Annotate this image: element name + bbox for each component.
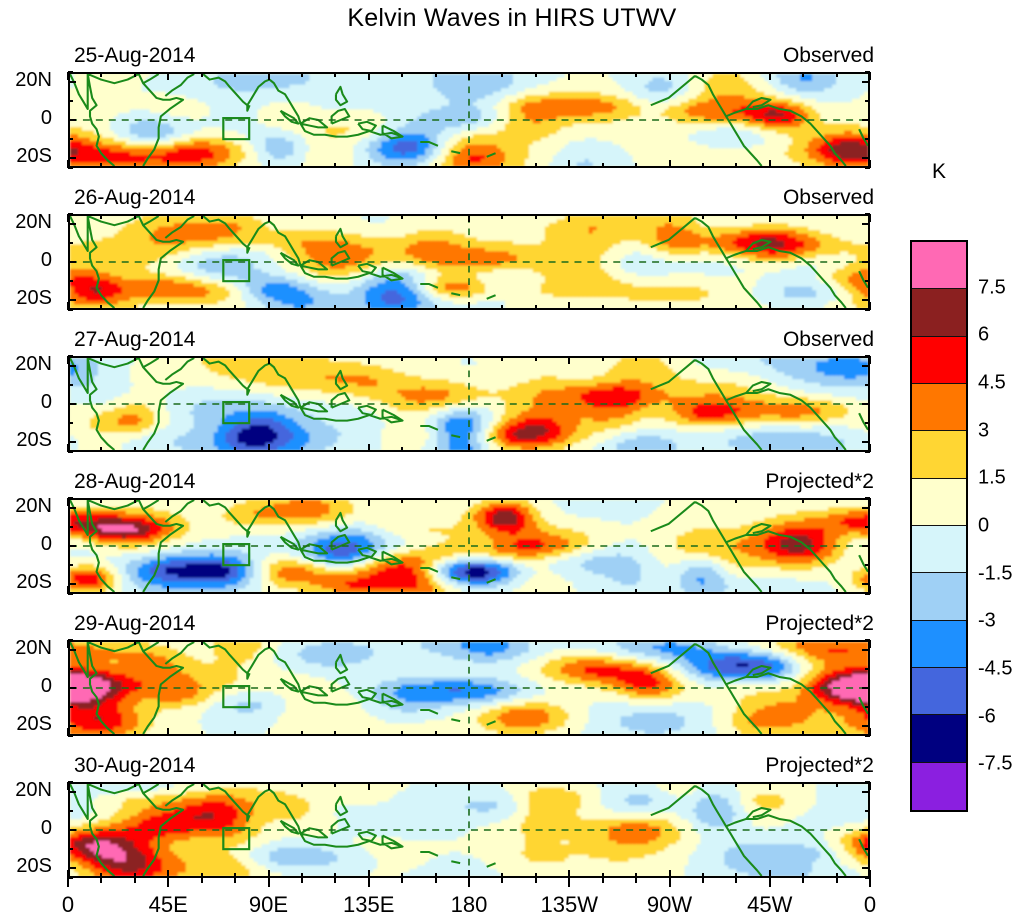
panel-lon-tick bbox=[836, 498, 838, 503]
panel-lon-tick bbox=[368, 586, 370, 594]
panel-lon-tick bbox=[769, 302, 771, 310]
panel-lon-tick bbox=[836, 731, 838, 736]
panel-lon-tick bbox=[702, 782, 704, 787]
panel-lon-tick bbox=[501, 589, 503, 594]
panel-lon-tick bbox=[368, 498, 370, 506]
x-tick-minor bbox=[334, 878, 336, 883]
panel-lon-tick bbox=[301, 163, 303, 168]
panel-lon-tick bbox=[67, 640, 69, 648]
map-panel-6[interactable] bbox=[68, 782, 870, 878]
panel-lon-tick bbox=[702, 72, 704, 77]
colorbar-band-5 bbox=[912, 479, 966, 526]
panel-lon-tick bbox=[268, 870, 270, 878]
panel-lon-tick bbox=[234, 214, 236, 219]
panel-lon-tick bbox=[234, 163, 236, 168]
panel-lon-tick bbox=[401, 640, 403, 645]
panel-lat-tick bbox=[865, 242, 870, 244]
panel-lon-tick bbox=[134, 356, 136, 361]
panel-lon-tick bbox=[401, 72, 403, 77]
colorbar-tick--6: -6 bbox=[978, 705, 996, 728]
panel-lon-tick bbox=[802, 72, 804, 77]
contour-field-6 bbox=[70, 784, 868, 876]
panel-lat-tick bbox=[865, 668, 870, 670]
panel-lon-tick bbox=[802, 498, 804, 503]
panel-lat-tick bbox=[68, 223, 76, 225]
panel-lon-tick bbox=[535, 731, 537, 736]
panel-lat-tick bbox=[68, 583, 76, 585]
contour-field-3 bbox=[70, 358, 868, 450]
panel-lon-tick bbox=[769, 72, 771, 80]
panel-lon-tick bbox=[201, 163, 203, 168]
x-tick-minor bbox=[702, 878, 704, 883]
panel-lon-tick bbox=[501, 163, 503, 168]
colorbar-band-4 bbox=[912, 431, 966, 478]
panel-lon-tick bbox=[535, 640, 537, 645]
panel-lon-tick bbox=[769, 214, 771, 222]
map-panel-4[interactable] bbox=[68, 498, 870, 594]
x-tick-minor bbox=[134, 878, 136, 883]
panel-lon-tick bbox=[735, 214, 737, 219]
panel-lon-tick bbox=[568, 782, 570, 790]
panel-lon-tick bbox=[67, 728, 69, 736]
panel-lon-tick bbox=[735, 72, 737, 77]
panel-lon-tick bbox=[836, 447, 838, 452]
panel-lon-tick bbox=[201, 731, 203, 736]
panel-lon-tick bbox=[802, 214, 804, 219]
panel-lon-tick bbox=[234, 498, 236, 503]
x-tick-minor bbox=[301, 878, 303, 883]
colorbar-band-6 bbox=[912, 526, 966, 573]
panel-lon-tick bbox=[435, 72, 437, 77]
panel-lon-tick bbox=[669, 444, 671, 452]
panel-lon-tick bbox=[201, 356, 203, 361]
panel-date-5: 29-Aug-2014 bbox=[74, 613, 195, 634]
panel-lat-tick bbox=[862, 507, 870, 509]
panel-lat-tick bbox=[68, 119, 76, 121]
colorbar-tick--7.5: -7.5 bbox=[978, 753, 1012, 776]
panel-lon-tick bbox=[635, 498, 637, 503]
panel-date-6: 30-Aug-2014 bbox=[74, 755, 195, 776]
panel-lon-tick bbox=[568, 640, 570, 648]
panel-lon-tick bbox=[568, 160, 570, 168]
panel-lon-tick bbox=[769, 728, 771, 736]
panel-lon-tick bbox=[635, 163, 637, 168]
panel-lon-tick bbox=[134, 640, 136, 645]
panel-lon-tick bbox=[869, 782, 871, 790]
panel-lon-tick bbox=[602, 782, 604, 787]
panel-lon-tick bbox=[201, 447, 203, 452]
panel-lon-tick bbox=[669, 214, 671, 222]
panel-lon-tick bbox=[234, 782, 236, 787]
panel-lon-tick bbox=[535, 782, 537, 787]
panel-lon-tick bbox=[735, 589, 737, 594]
panel-lon-tick bbox=[869, 870, 871, 878]
y-axis-label-0-panel-6: 0 bbox=[0, 817, 62, 840]
map-panel-1[interactable] bbox=[68, 72, 870, 168]
colorbar-band-8 bbox=[912, 621, 966, 668]
panel-lon-tick bbox=[869, 214, 871, 222]
panel-lon-tick bbox=[401, 447, 403, 452]
y-axis-label-20N-panel-4: 20N bbox=[0, 495, 62, 518]
panel-lon-tick bbox=[100, 640, 102, 645]
panel-lon-tick bbox=[836, 589, 838, 594]
panel-lon-tick bbox=[67, 160, 69, 168]
panel-lon-tick bbox=[201, 589, 203, 594]
panel-lon-tick bbox=[568, 586, 570, 594]
panel-lon-tick bbox=[301, 782, 303, 787]
panel-lon-tick bbox=[635, 356, 637, 361]
panel-lon-tick bbox=[769, 444, 771, 452]
panel-lat-tick bbox=[865, 384, 870, 386]
panel-lon-tick bbox=[234, 731, 236, 736]
panel-lon-tick bbox=[501, 498, 503, 503]
panel-lon-tick bbox=[602, 305, 604, 310]
panel-lon-tick bbox=[435, 163, 437, 168]
panel-lat-tick bbox=[862, 649, 870, 651]
colorbar-band-9 bbox=[912, 668, 966, 715]
panel-lon-tick bbox=[635, 305, 637, 310]
map-panel-2[interactable] bbox=[68, 214, 870, 310]
y-axis-label-0-panel-5: 0 bbox=[0, 675, 62, 698]
panel-lat-tick bbox=[68, 242, 73, 244]
panel-lon-tick bbox=[435, 640, 437, 645]
panel-lon-tick bbox=[268, 214, 270, 222]
panel-lon-tick bbox=[669, 356, 671, 364]
panel-kind-3: Observed bbox=[783, 329, 874, 350]
panel-lon-tick bbox=[602, 356, 604, 361]
map-panel-3[interactable] bbox=[68, 356, 870, 452]
panel-lon-tick bbox=[201, 498, 203, 503]
y-axis-label-20S-panel-4: 20S bbox=[0, 571, 62, 594]
x-tick-minor bbox=[435, 878, 437, 883]
panel-lon-tick bbox=[669, 586, 671, 594]
panel-lon-tick bbox=[602, 72, 604, 77]
panel-lon-tick bbox=[234, 447, 236, 452]
panel-lon-tick bbox=[802, 782, 804, 787]
map-panel-5[interactable] bbox=[68, 640, 870, 736]
panel-lon-tick bbox=[468, 214, 470, 222]
panel-lon-tick bbox=[535, 72, 537, 77]
colorbar-tick--3: -3 bbox=[978, 610, 996, 633]
panel-lon-tick bbox=[468, 870, 470, 878]
panel-lon-tick bbox=[602, 447, 604, 452]
x-axis-label-0: 0 bbox=[864, 892, 876, 918]
x-tick-major bbox=[368, 878, 370, 887]
x-tick-minor bbox=[234, 878, 236, 883]
panel-lon-tick bbox=[100, 163, 102, 168]
panel-lon-tick bbox=[769, 640, 771, 648]
colorbar-tick--1.5: -1.5 bbox=[978, 562, 1012, 585]
panel-lat-tick bbox=[68, 441, 76, 443]
panel-lon-tick bbox=[602, 640, 604, 645]
x-tick-minor bbox=[836, 878, 838, 883]
panel-lat-tick bbox=[862, 545, 870, 547]
panel-lat-tick bbox=[68, 829, 76, 831]
panel-lon-tick bbox=[234, 305, 236, 310]
panel-lon-tick bbox=[635, 782, 637, 787]
panel-lon-tick bbox=[602, 214, 604, 219]
colorbar-tick-1.5: 1.5 bbox=[978, 467, 1006, 490]
panel-lon-tick bbox=[735, 356, 737, 361]
panel-lat-tick bbox=[862, 81, 870, 83]
panel-lon-tick bbox=[401, 356, 403, 361]
panel-lon-tick bbox=[334, 163, 336, 168]
panel-lon-tick bbox=[635, 72, 637, 77]
panel-lon-tick bbox=[702, 498, 704, 503]
panel-lon-tick bbox=[702, 356, 704, 361]
panel-lon-tick bbox=[368, 640, 370, 648]
panel-lon-tick bbox=[735, 640, 737, 645]
panel-lon-tick bbox=[334, 305, 336, 310]
panel-lon-tick bbox=[234, 72, 236, 77]
x-axis-label-45W: 45W bbox=[747, 892, 792, 918]
panel-lat-tick bbox=[865, 422, 870, 424]
panel-lon-tick bbox=[401, 782, 403, 787]
contour-field-2 bbox=[70, 216, 868, 308]
panel-lon-tick bbox=[769, 586, 771, 594]
colorbar-band-11 bbox=[912, 763, 966, 810]
panel-lon-tick bbox=[368, 302, 370, 310]
panel-lon-tick bbox=[268, 782, 270, 790]
panel-lon-tick bbox=[702, 447, 704, 452]
y-axis-label-20S-panel-3: 20S bbox=[0, 429, 62, 452]
y-axis-label-20N-panel-2: 20N bbox=[0, 211, 62, 234]
panel-lon-tick bbox=[67, 498, 69, 506]
panel-lon-tick bbox=[234, 640, 236, 645]
colorbar-unit-label: K bbox=[910, 160, 968, 184]
panel-lon-tick bbox=[869, 160, 871, 168]
colorbar-tick-labels: 7.564.531.50-1.5-3-4.5-6-7.5 bbox=[974, 240, 1024, 812]
panel-lon-tick bbox=[67, 870, 69, 878]
panel-lon-tick bbox=[334, 447, 336, 452]
x-tick-minor bbox=[401, 878, 403, 883]
panel-lon-tick bbox=[702, 640, 704, 645]
panel-lon-tick bbox=[401, 163, 403, 168]
panel-lon-tick bbox=[334, 782, 336, 787]
panel-lat-tick bbox=[68, 725, 76, 727]
panel-lon-tick bbox=[334, 214, 336, 219]
panel-lon-tick bbox=[301, 447, 303, 452]
panel-lon-tick bbox=[735, 163, 737, 168]
x-tick-minor bbox=[635, 878, 637, 883]
panel-lat-tick bbox=[68, 545, 76, 547]
panel-lat-tick bbox=[68, 403, 76, 405]
y-axis-label-20S-panel-5: 20S bbox=[0, 713, 62, 736]
panel-lon-tick bbox=[669, 728, 671, 736]
panel-lon-tick bbox=[167, 586, 169, 594]
panel-lon-tick bbox=[67, 444, 69, 452]
panel-lat-tick bbox=[68, 100, 73, 102]
y-axis-label-20S-panel-1: 20S bbox=[0, 145, 62, 168]
panel-lon-tick bbox=[468, 640, 470, 648]
panel-lon-tick bbox=[501, 214, 503, 219]
panel-lon-tick bbox=[535, 214, 537, 219]
panel-lon-tick bbox=[769, 782, 771, 790]
panel-lon-tick bbox=[201, 305, 203, 310]
panel-lon-tick bbox=[468, 72, 470, 80]
x-tick-major bbox=[268, 878, 270, 887]
panel-lon-tick bbox=[669, 782, 671, 790]
panel-lat-tick bbox=[862, 261, 870, 263]
panel-lat-tick bbox=[865, 526, 870, 528]
panel-lon-tick bbox=[602, 589, 604, 594]
panel-lon-tick bbox=[435, 589, 437, 594]
x-tick-major bbox=[468, 878, 470, 887]
x-tick-major bbox=[869, 878, 871, 887]
panel-lon-tick bbox=[301, 356, 303, 361]
panel-lon-tick bbox=[234, 589, 236, 594]
panel-lat-tick bbox=[68, 867, 76, 869]
panel-lon-tick bbox=[301, 589, 303, 594]
panel-kind-5: Projected*2 bbox=[765, 613, 874, 634]
panel-lon-tick bbox=[100, 214, 102, 219]
colorbar bbox=[910, 240, 968, 812]
panel-lat-tick bbox=[68, 384, 73, 386]
y-axis-label-20S-panel-2: 20S bbox=[0, 287, 62, 310]
panel-lat-tick bbox=[68, 138, 73, 140]
panel-lat-tick bbox=[68, 299, 76, 301]
panel-lon-tick bbox=[802, 163, 804, 168]
panel-lat-tick bbox=[862, 119, 870, 121]
colorbar-band-2 bbox=[912, 337, 966, 384]
panel-lon-tick bbox=[134, 731, 136, 736]
panel-lon-tick bbox=[602, 731, 604, 736]
panel-lon-tick bbox=[568, 214, 570, 222]
panel-lon-tick bbox=[702, 589, 704, 594]
panel-lat-tick bbox=[862, 791, 870, 793]
panel-lon-tick bbox=[802, 305, 804, 310]
panel-lon-tick bbox=[368, 72, 370, 80]
x-axis-label-45E: 45E bbox=[149, 892, 188, 918]
y-axis-label-0-panel-4: 0 bbox=[0, 533, 62, 556]
panel-lat-tick bbox=[68, 280, 73, 282]
panel-lon-tick bbox=[268, 72, 270, 80]
panel-lon-tick bbox=[802, 731, 804, 736]
panel-lon-tick bbox=[100, 356, 102, 361]
x-tick-major bbox=[769, 878, 771, 887]
x-axis-label-135E: 135E bbox=[343, 892, 394, 918]
panel-lon-tick bbox=[468, 444, 470, 452]
panel-lon-tick bbox=[167, 728, 169, 736]
figure-canvas: Kelvin Waves in HIRS UTWV 25-Aug-2014Obs… bbox=[0, 0, 1024, 920]
panel-lon-tick bbox=[836, 305, 838, 310]
panel-lon-tick bbox=[669, 72, 671, 80]
panel-lon-tick bbox=[802, 447, 804, 452]
panel-lon-tick bbox=[67, 214, 69, 222]
panel-lon-tick bbox=[869, 72, 871, 80]
panel-lon-tick bbox=[167, 498, 169, 506]
panel-lon-tick bbox=[401, 589, 403, 594]
panel-lon-tick bbox=[535, 356, 537, 361]
panel-lat-tick bbox=[68, 687, 76, 689]
panel-lon-tick bbox=[501, 447, 503, 452]
panel-lon-tick bbox=[167, 214, 169, 222]
panel-lon-tick bbox=[836, 782, 838, 787]
panel-lon-tick bbox=[435, 305, 437, 310]
colorbar-band-3 bbox=[912, 384, 966, 431]
panel-lon-tick bbox=[702, 163, 704, 168]
panel-lon-tick bbox=[735, 731, 737, 736]
panel-lon-tick bbox=[167, 870, 169, 878]
panel-lon-tick bbox=[501, 356, 503, 361]
panel-lon-tick bbox=[268, 160, 270, 168]
colorbar-tick-7.5: 7.5 bbox=[978, 276, 1006, 299]
x-tick-minor bbox=[802, 878, 804, 883]
colorbar-tick-3: 3 bbox=[978, 419, 989, 442]
x-tick-major bbox=[167, 878, 169, 887]
panel-kind-2: Observed bbox=[783, 187, 874, 208]
panel-lon-tick bbox=[802, 589, 804, 594]
panel-lon-tick bbox=[568, 728, 570, 736]
panel-lon-tick bbox=[234, 356, 236, 361]
panel-lon-tick bbox=[334, 640, 336, 645]
panel-lon-tick bbox=[535, 163, 537, 168]
x-tick-minor bbox=[735, 878, 737, 883]
panel-lat-tick bbox=[865, 564, 870, 566]
panel-lon-tick bbox=[635, 214, 637, 219]
panel-lon-tick bbox=[501, 640, 503, 645]
panel-lon-tick bbox=[669, 640, 671, 648]
y-axis-label-20N-panel-3: 20N bbox=[0, 353, 62, 376]
panel-lon-tick bbox=[134, 589, 136, 594]
x-tick-minor bbox=[602, 878, 604, 883]
colorbar-tick-6: 6 bbox=[978, 324, 989, 347]
panel-lon-tick bbox=[301, 305, 303, 310]
x-tick-minor bbox=[201, 878, 203, 883]
panel-lon-tick bbox=[568, 444, 570, 452]
panel-lat-tick bbox=[68, 507, 76, 509]
panel-lon-tick bbox=[468, 586, 470, 594]
panel-lon-tick bbox=[368, 870, 370, 878]
panel-lon-tick bbox=[134, 782, 136, 787]
panel-lon-tick bbox=[268, 586, 270, 594]
y-axis-label-20N-panel-6: 20N bbox=[0, 779, 62, 802]
panel-lon-tick bbox=[401, 498, 403, 503]
panel-lon-tick bbox=[334, 356, 336, 361]
panel-lon-tick bbox=[134, 498, 136, 503]
panel-lon-tick bbox=[735, 782, 737, 787]
x-axis: 045E90E135E180135W90W45W0 bbox=[68, 878, 870, 918]
panel-lon-tick bbox=[802, 356, 804, 361]
panel-lat-tick bbox=[68, 157, 76, 159]
panel-lon-tick bbox=[501, 72, 503, 77]
panel-lat-tick bbox=[68, 564, 73, 566]
panel-lon-tick bbox=[735, 447, 737, 452]
x-tick-minor bbox=[535, 878, 537, 883]
panel-lat-tick bbox=[68, 365, 76, 367]
y-axis-label-0-panel-2: 0 bbox=[0, 249, 62, 272]
panel-lon-tick bbox=[702, 731, 704, 736]
panel-lon-tick bbox=[100, 447, 102, 452]
y-axis-label-20N-panel-5: 20N bbox=[0, 637, 62, 660]
panel-lon-tick bbox=[869, 498, 871, 506]
panel-lon-tick bbox=[669, 302, 671, 310]
panel-lat-tick bbox=[68, 706, 73, 708]
panel-lon-tick bbox=[268, 498, 270, 506]
panel-lon-tick bbox=[602, 163, 604, 168]
panel-lon-tick bbox=[100, 589, 102, 594]
colorbar-band-1 bbox=[912, 289, 966, 336]
panel-lon-tick bbox=[134, 447, 136, 452]
panel-lon-tick bbox=[769, 356, 771, 364]
contour-field-4 bbox=[70, 500, 868, 592]
panel-lon-tick bbox=[268, 728, 270, 736]
y-axis-label-20N-panel-1: 20N bbox=[0, 69, 62, 92]
panel-lon-tick bbox=[501, 782, 503, 787]
panel-lon-tick bbox=[802, 640, 804, 645]
panel-lon-tick bbox=[100, 72, 102, 77]
panel-lon-tick bbox=[869, 444, 871, 452]
